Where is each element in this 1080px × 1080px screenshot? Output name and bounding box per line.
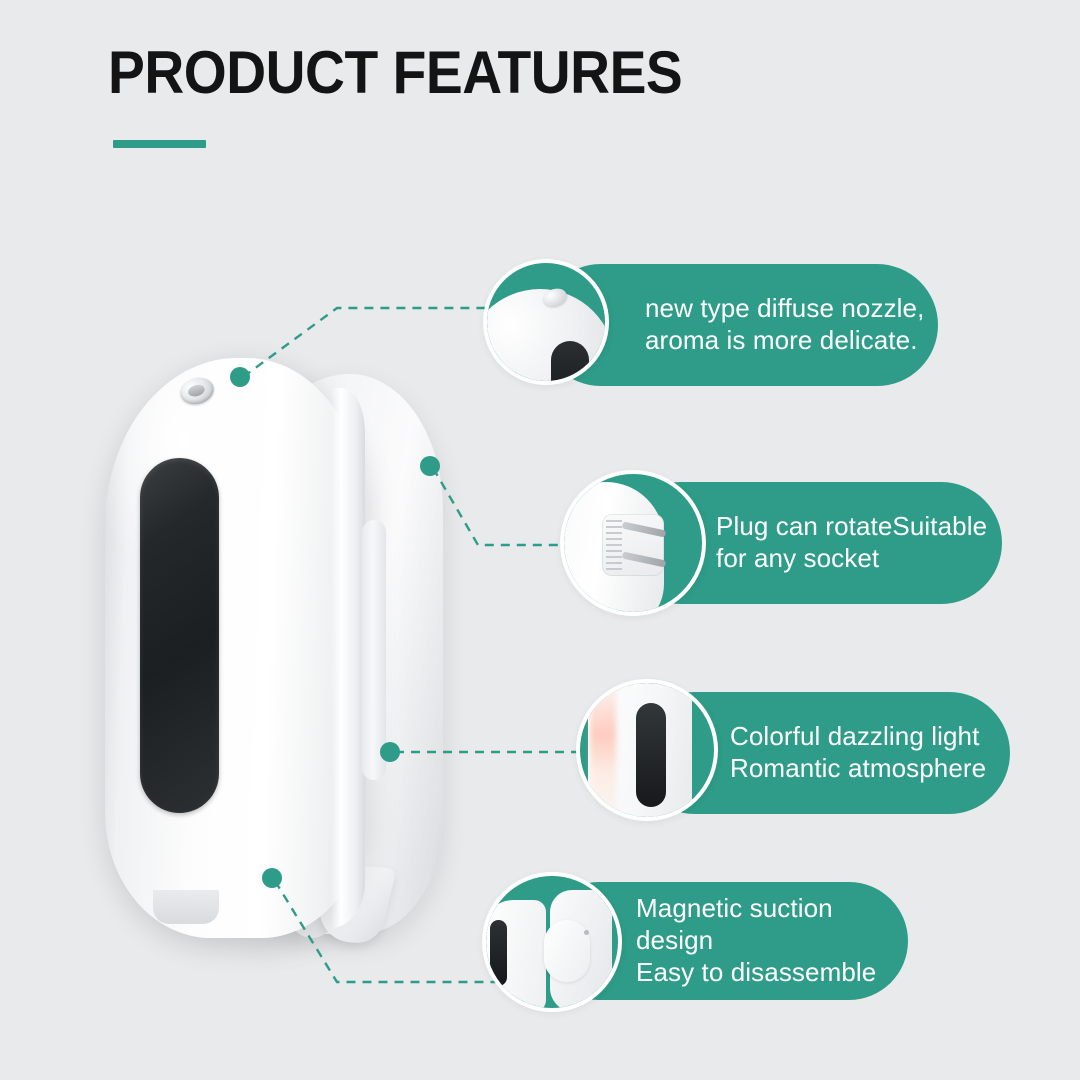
magnetic-halves-thumb — [482, 872, 622, 1012]
rotating-plug-thumb — [560, 470, 706, 616]
feature-text-2: Plug can rotateSuitable for any socket — [716, 511, 987, 574]
title-underline-rule — [113, 140, 206, 148]
product-image — [95, 330, 475, 970]
infographic-canvas: PRODUCT FEATURES new type diffuse — [0, 0, 1080, 1080]
product-display-panel — [140, 458, 219, 813]
product-seam — [331, 388, 365, 928]
product-light-strip — [362, 520, 386, 780]
feature-text-4: Magnetic suction design Easy to disassem… — [636, 893, 908, 988]
nozzle-closeup-thumb — [483, 259, 609, 385]
feature-text-1: new type diffuse nozzle, aroma is more d… — [645, 293, 924, 356]
feature-text-3: Colorful dazzling light Romantic atmosph… — [730, 721, 986, 784]
light-strip-thumb — [576, 679, 718, 821]
page-title: PRODUCT FEATURES — [108, 38, 682, 107]
product-foot — [153, 890, 219, 924]
